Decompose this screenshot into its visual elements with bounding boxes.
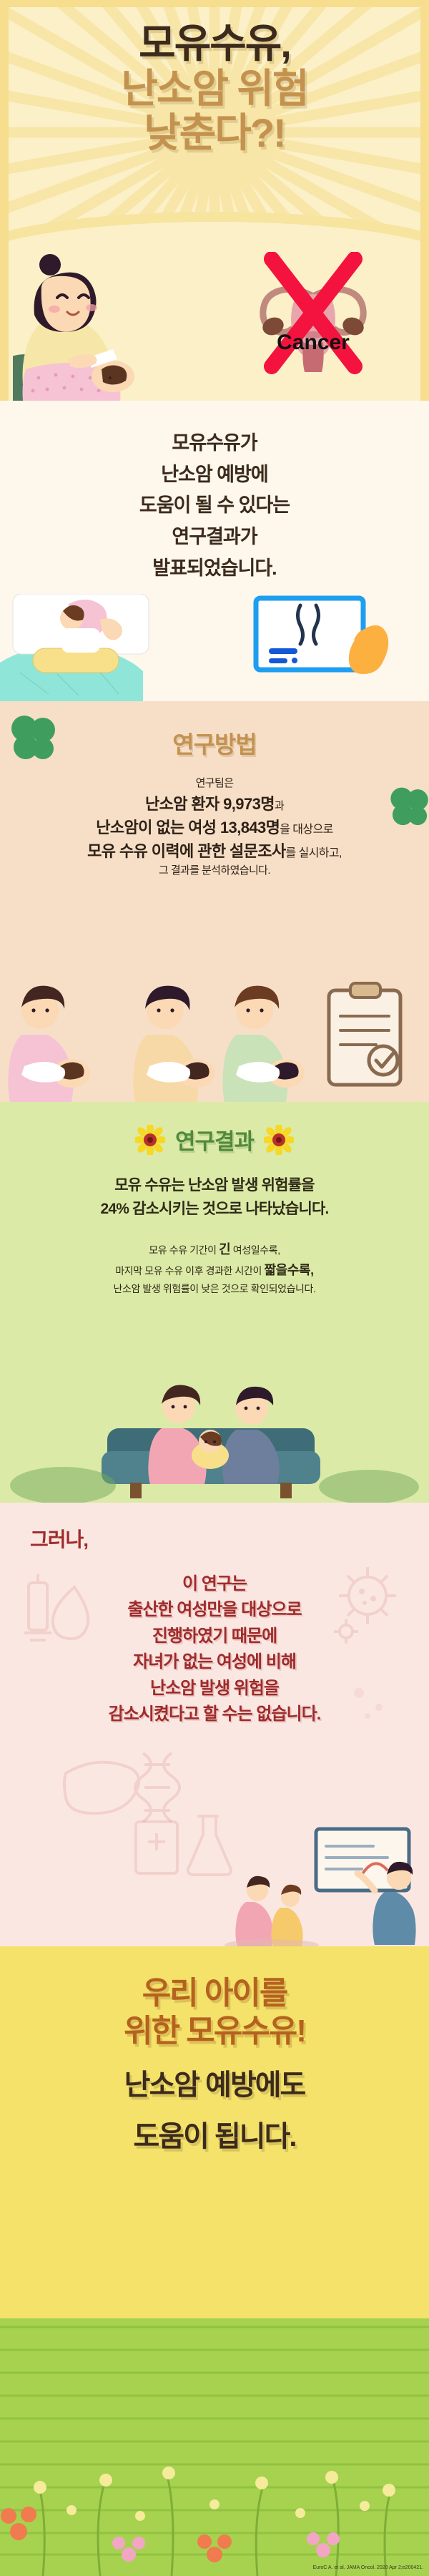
results-sub-2a: 마지막 모유 수유 이후 경과한 시간이 (115, 1265, 264, 1277)
results-sub-1b: 긴 (219, 1242, 230, 1257)
method-line-4-tail: 를 실시하고, (286, 847, 342, 859)
tablet-medical-chart-illustration (250, 595, 408, 696)
footer-section: EuroC A. et al. JAMA Oncol. 2020 Apr 2;e… (0, 2318, 429, 2576)
method-line-3: 난소암이 없는 여성 13,843명을 대상으로 (0, 816, 429, 839)
caveat-section: 그러나, 이 연구는 출산한 여성만을 대상으로 진행하였기 때문에 자녀가 없… (0, 1503, 429, 1946)
conclusion-section: 우리 아이를 위한 모유수유! 난소암 예방에도 도움이 됩니다. (0, 1946, 429, 2318)
mother-breastfeeding-illustration (13, 236, 149, 401)
grass-and-flowers-illustration (0, 2318, 429, 2576)
method-line-3-tail: 을 대상으로 (280, 824, 332, 836)
results-main-line-1: 모유 수유는 난소암 발생 위험률을 (0, 1174, 429, 1198)
statement-line-3: 도움이 될 수 있다는 (0, 490, 429, 522)
doctor-presentation-illustration (209, 1825, 423, 1946)
red-x-mark-icon (242, 252, 385, 381)
method-illustrations (0, 966, 429, 1102)
method-line-4: 모유 수유 이력에 관한 설문조사를 실시하고, (0, 839, 429, 863)
caveat-however-label: 그러나, (0, 1524, 429, 1553)
results-sub-2b: 짧을수록, (264, 1263, 313, 1277)
results-section: 연구결과 모유 수유는 난소암 발생 위험률을 24% 감소시키는 것으로 나타… (0, 1102, 429, 1503)
conclusion-line-1: 우리 아이를 (0, 1975, 429, 2013)
statement-line-5: 발표되었습니다. (0, 553, 429, 585)
method-body: 연구팀은 난소암 환자 9,973명과 난소암이 없는 여성 13,843명을 … (0, 776, 429, 879)
mother-in-bed-illustration (0, 594, 164, 701)
hero-panel: 모유수유, 난소암 위험 낮춘다?! (9, 7, 420, 401)
results-sub-line-2: 마지막 모유 수유 이후 경과한 시간이 짧을수록, (0, 1260, 429, 1281)
statement-section: 모유수유가 난소암 예방에 도움이 될 수 있다는 연구결과가 발표되었습니다. (0, 401, 429, 701)
results-heading: 연구결과 (175, 1123, 254, 1156)
results-sub-1a: 모유 수유 기간이 (149, 1244, 219, 1256)
results-sub-line-1: 모유 수유 기간이 긴 여성일수록, (0, 1239, 429, 1260)
method-line-2-tail: 과 (275, 800, 284, 812)
statement-illustrations (0, 594, 429, 701)
uterus-cancer-graphic: Cancer (242, 252, 385, 381)
caveat-line-3: 진행하였기 때문에 (0, 1624, 429, 1649)
conclusion-line-4: 도움이 됩니다. (0, 2119, 429, 2155)
citation-text: EuroC A. et al. JAMA Oncol. 2020 Apr 2;e… (313, 2565, 424, 2570)
hero-section: 모유수유, 난소암 위험 낮춘다?! (0, 0, 429, 401)
hero-title-line-2: 난소암 위험 (9, 67, 420, 112)
sunflower-icon (264, 1125, 294, 1155)
results-main-line-2: 24% 감소시키는 것으로 나타났습니다. (0, 1198, 429, 1221)
method-line-5: 그 결과를 분석하였습니다. (0, 863, 429, 879)
hero-title-block: 모유수유, 난소암 위험 낮춘다?! (9, 7, 420, 156)
statement-line-2: 난소암 예방에 (0, 459, 429, 491)
cancer-label: Cancer (277, 331, 350, 355)
hero-title-line-1: 모유수유, (9, 21, 420, 67)
method-section: 연구방법 연구팀은 난소암 환자 9,973명과 난소암이 없는 여성 13,8… (0, 701, 429, 1102)
results-heading-row: 연구결과 (0, 1123, 429, 1156)
caveat-line-2: 출산한 여성만을 대상으로 (0, 1597, 429, 1623)
method-heading: 연구방법 (0, 726, 429, 760)
statement-line-1: 모유수유가 (0, 428, 429, 459)
method-line-1: 연구팀은 (0, 776, 429, 792)
caveat-body: 이 연구는 출산한 여성만을 대상으로 진행하였기 때문에 자녀가 없는 여성에… (0, 1571, 429, 1728)
conclusion-line-3: 난소암 예방에도 (0, 2068, 429, 2103)
method-line-2: 난소암 환자 9,973명과 (0, 792, 429, 816)
caveat-line-1: 이 연구는 (0, 1571, 429, 1597)
method-line-4-bold: 모유 수유 이력에 관한 설문조사 (87, 842, 285, 860)
caveat-line-6: 감소시켰다고 할 수는 없습니다. (0, 1702, 429, 1727)
results-body: 모유 수유는 난소암 발생 위험률을 24% 감소시키는 것으로 나타났습니다.… (0, 1174, 429, 1297)
sunflower-icon (135, 1125, 165, 1155)
statement-line-4: 연구결과가 (0, 522, 429, 553)
family-on-sofa-illustration (0, 1360, 429, 1503)
three-mothers-and-clipboard-illustration (0, 966, 429, 1102)
method-line-3-bold: 난소암이 없는 여성 13,843명 (96, 819, 280, 836)
method-line-2-bold: 난소암 환자 9,973명 (145, 795, 275, 813)
caveat-line-5: 난소암 발생 위험을 (0, 1676, 429, 1702)
conclusion-line-2: 위한 모유수유! (0, 2013, 429, 2051)
results-sub-1c: 여성일수록, (230, 1244, 280, 1256)
results-sub-line-3: 난소암 발생 위험률이 낮은 것으로 확인되었습니다. (0, 1281, 429, 1297)
caveat-line-4: 자녀가 없는 여성에 비해 (0, 1649, 429, 1675)
hero-title-line-3: 낮춘다?! (9, 111, 420, 156)
